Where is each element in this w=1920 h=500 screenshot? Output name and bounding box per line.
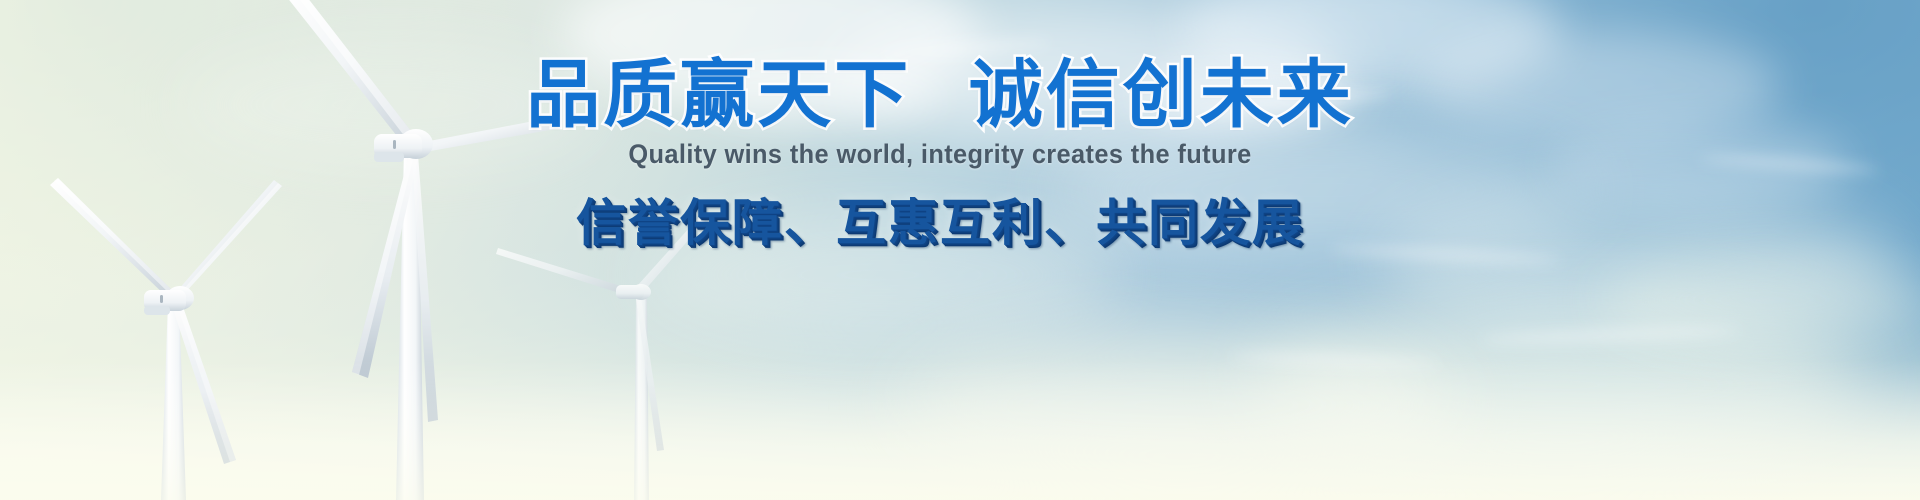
banner-subtitle-english: Quality wins the world, integrity create…: [38, 140, 1843, 170]
hero-banner: 品质赢天下 诚信创未来 Quality wins the world, inte…: [0, 0, 1920, 500]
banner-tagline: 信誉保障、互惠互利、共同发展: [0, 198, 1900, 248]
banner-text-block: 品质赢天下 诚信创未来 Quality wins the world, inte…: [0, 0, 1920, 500]
banner-headline: 品质赢天下 诚信创未来: [0, 58, 1900, 132]
